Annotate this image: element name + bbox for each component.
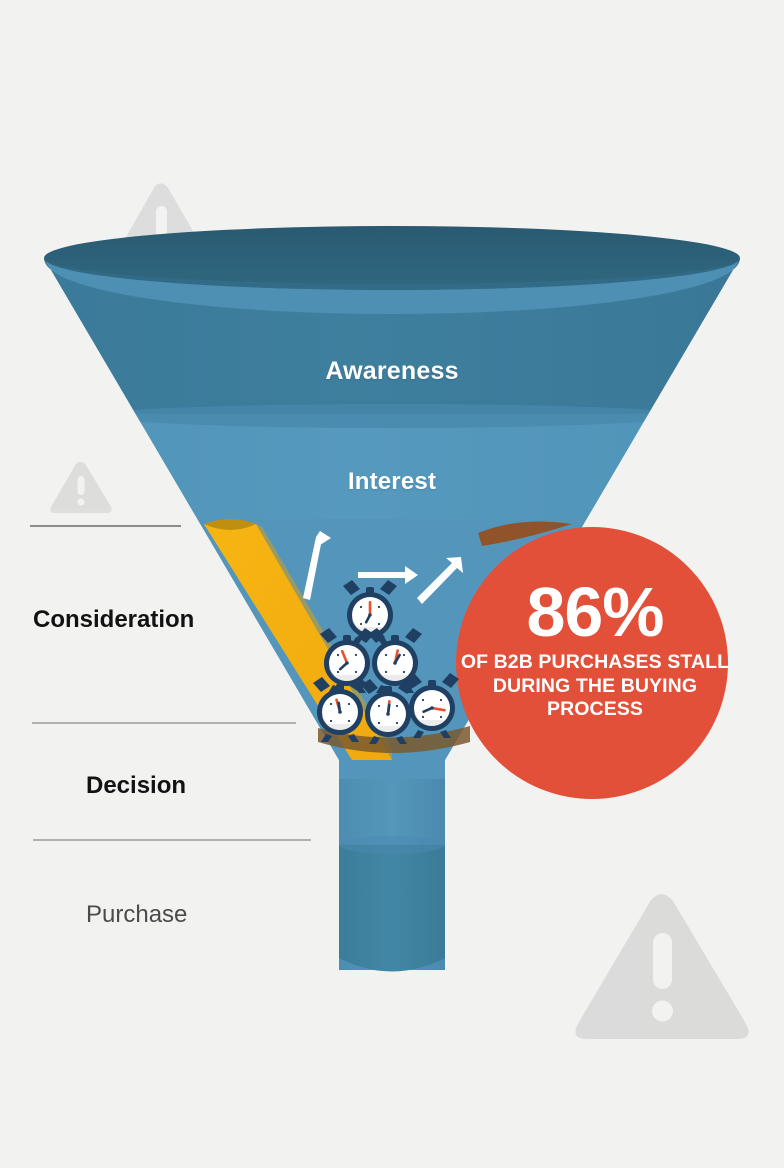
funnel-rim — [44, 226, 740, 290]
stage-label-purchase: Purchase — [86, 901, 187, 929]
funnel-illustration — [0, 0, 784, 1168]
statistic-badge — [456, 527, 728, 799]
warning-triangle-left-icon — [50, 462, 112, 513]
funnel-stem — [339, 760, 445, 972]
stage-label-decision: Decision — [86, 772, 186, 800]
infographic-canvas: Awareness Interest Consideration Decisio… — [0, 0, 784, 1168]
warning-triangle-bottom-icon — [575, 894, 748, 1039]
stage-label-consideration: Consideration — [33, 606, 194, 634]
